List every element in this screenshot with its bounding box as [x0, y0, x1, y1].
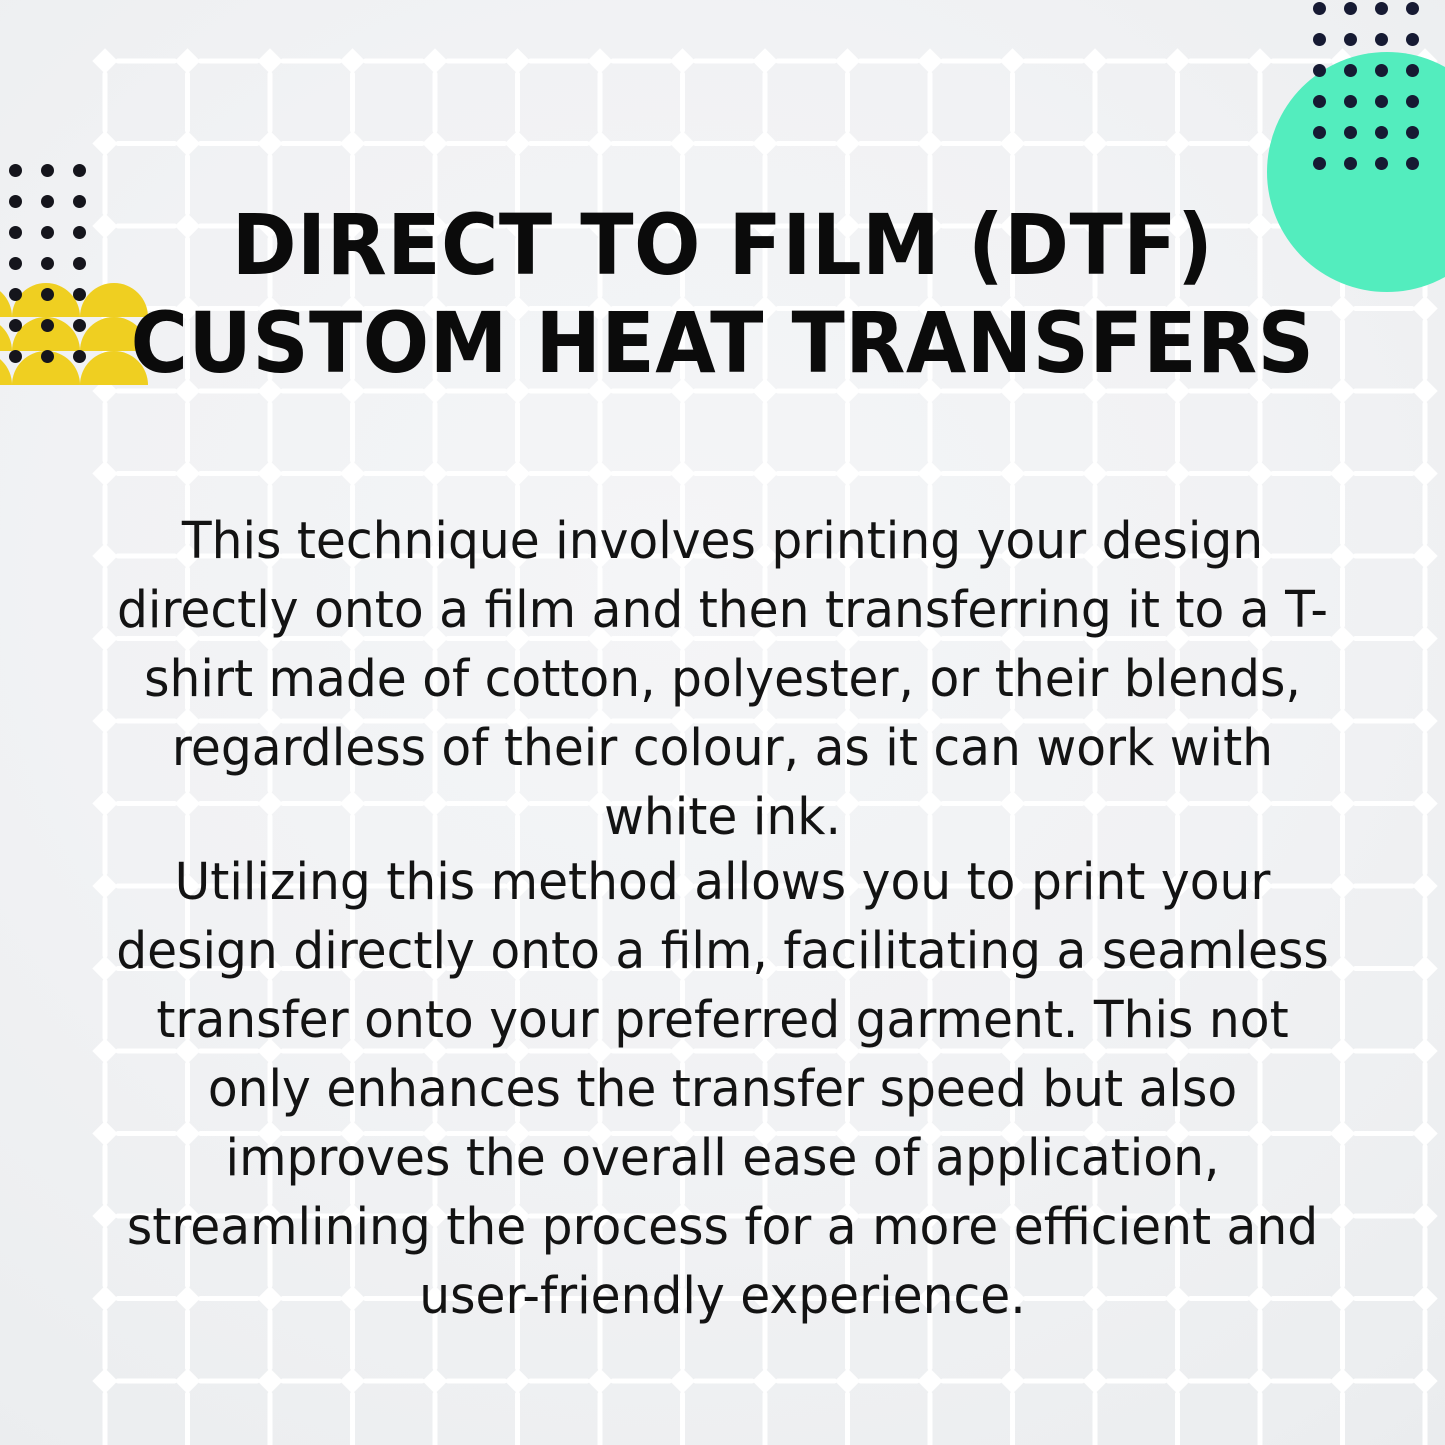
poster-canvas: DIRECT TO FILM (DTF) CUSTOM HEAT TRANSFE… [0, 0, 1445, 1445]
headline-line-1: DIRECT TO FILM (DTF) [51, 196, 1395, 294]
headline-line-2: CUSTOM HEAT TRANSFERS [51, 294, 1395, 392]
page-title: DIRECT TO FILM (DTF) CUSTOM HEAT TRANSFE… [51, 196, 1395, 392]
body-paragraph-2: Utilizing this method allows you to prin… [115, 848, 1331, 1331]
poster-content: DIRECT TO FILM (DTF) CUSTOM HEAT TRANSFE… [0, 0, 1445, 1445]
body-paragraph-1: This technique involves printing your de… [115, 507, 1331, 852]
